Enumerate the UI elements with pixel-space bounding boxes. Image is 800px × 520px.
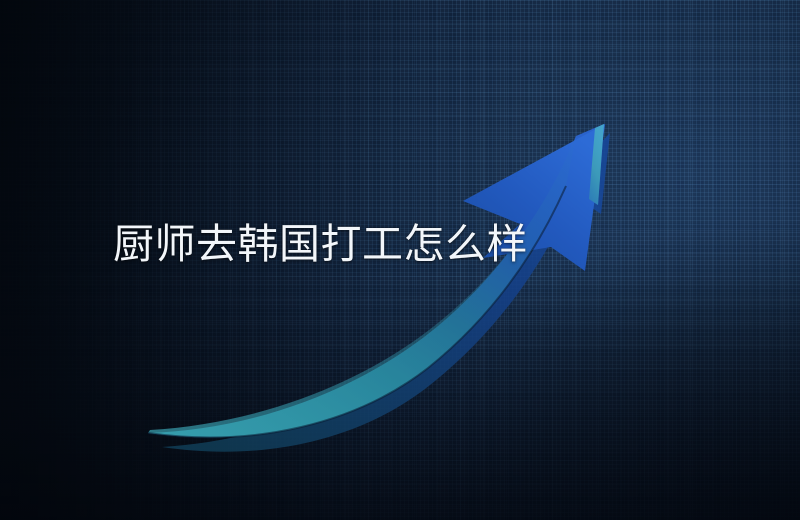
page-title: 厨师去韩国打工怎么样 (113, 219, 528, 269)
banner-graphic: 厨师去韩国打工怎么样 (0, 0, 800, 520)
